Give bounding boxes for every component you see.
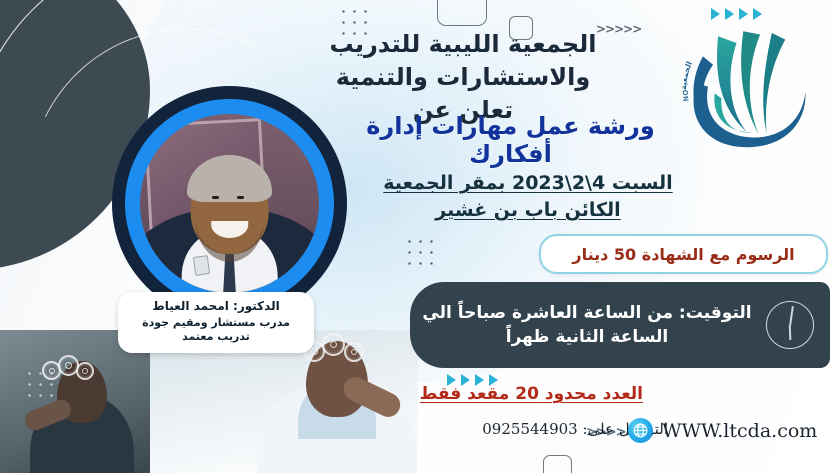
organization-logo: LIBYAN TRAINING CONSULTANCY AND DEVELOPM… xyxy=(666,6,834,174)
speaker-role: مدرب مستشار ومقيم جودة تدريب معتمد xyxy=(126,316,306,345)
venue-line: الكائن باب بن غشير xyxy=(378,197,678,224)
workshop-title: ورشة عمل مهارات إدارة أفكارك xyxy=(338,112,683,168)
thinker-figure-right xyxy=(246,333,418,473)
poster-canvas: اتحاد المد الدكتور: امحمد العياط مدرب مس… xyxy=(0,0,838,473)
website-link[interactable]: WWW.ltcda.com xyxy=(628,418,817,443)
fee-badge: الرسوم مع الشهادة 50 دينار xyxy=(539,234,828,274)
photo-eye-left xyxy=(212,196,219,199)
thinker-gears xyxy=(42,355,94,385)
gear-icon xyxy=(322,333,345,356)
timing-text: التوقيت: من الساعة العاشرة صباحاً الي ال… xyxy=(420,301,754,349)
globe-icon xyxy=(628,418,653,443)
decorative-rounded-square-bottom xyxy=(543,455,572,473)
photo-eye-right xyxy=(237,196,244,199)
speaker-name-card: الدكتور: امحمد العياط مدرب مستشار ومقيم … xyxy=(118,292,314,353)
date-line: السبت 4\2\2023 بمقر الجمعية xyxy=(378,170,678,197)
speaker-name: الدكتور: امحمد العياط xyxy=(126,299,306,314)
gear-icon xyxy=(76,362,94,380)
clock-icon xyxy=(766,301,814,349)
timing-panel: التوقيت: من الساعة العاشرة صباحاً الي ال… xyxy=(410,282,830,368)
decorative-rounded-square-top xyxy=(437,0,487,26)
speaker-photo: اتحاد المد xyxy=(140,114,319,293)
gear-icon xyxy=(344,342,364,362)
date-and-venue: السبت 4\2\2023 بمقر الجمعية الكائن باب ب… xyxy=(378,170,678,223)
thinker-figure-left xyxy=(18,339,146,473)
website-url: WWW.ltcda.com xyxy=(662,420,817,442)
seats-notice: العدد محدود 20 مقعد فقط xyxy=(420,384,643,404)
clock-hand-minute xyxy=(789,306,793,325)
clock-hand-hour xyxy=(789,325,791,340)
organization-name-line: الجمعية الليبية للتدريب والاستشارات والت… xyxy=(253,28,673,94)
photo-lanyard-badge xyxy=(192,255,209,276)
